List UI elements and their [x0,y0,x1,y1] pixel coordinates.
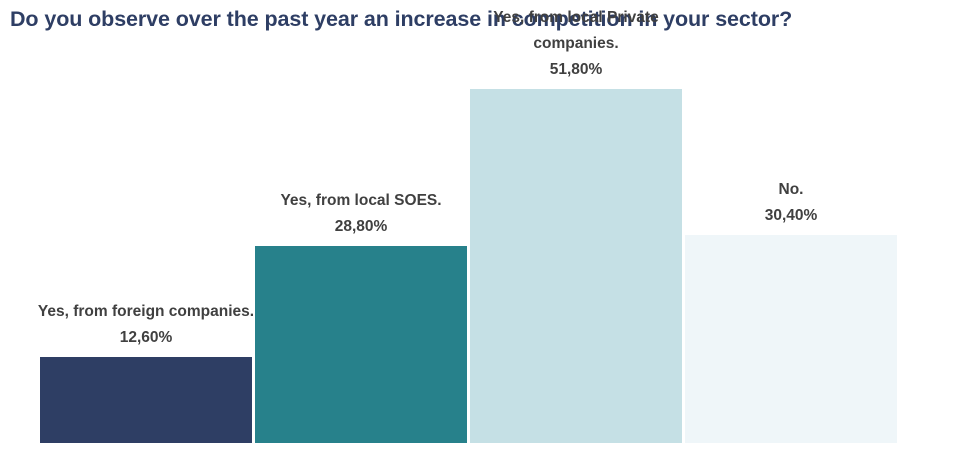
bar-value-label: 30,40% [666,203,916,229]
bar-category-label: Yes, from local SOES. [236,188,486,214]
bar-value-label: 12,60% [21,325,271,351]
bar[interactable] [685,235,897,443]
chart-container: Do you observe over the past year an inc… [0,0,975,462]
bar-value-label: 28,80% [236,214,486,240]
bar[interactable] [255,246,467,443]
plot-area: Yes, from foreign companies.12,60%Yes, f… [0,0,975,462]
bar-group: Yes, from local SOES.28,80% [255,0,467,443]
bar-label: Yes, from foreign companies.12,60% [21,299,271,351]
bar-category-label: Yes, from local Private companies. [451,5,701,57]
bar-group: No.30,40% [685,0,897,443]
bar-value-label: 51,80% [451,57,701,83]
bar-category-label: No. [666,177,916,203]
bar-label: Yes, from local Private companies.51,80% [451,5,701,83]
bar[interactable] [40,357,252,443]
bar-group: Yes, from foreign companies.12,60% [40,0,252,443]
bar-label: Yes, from local SOES.28,80% [236,188,486,240]
bar[interactable] [470,89,682,443]
bar-label: No.30,40% [666,177,916,229]
bar-category-label: Yes, from foreign companies. [21,299,271,325]
bar-group: Yes, from local Private companies.51,80% [470,0,682,443]
